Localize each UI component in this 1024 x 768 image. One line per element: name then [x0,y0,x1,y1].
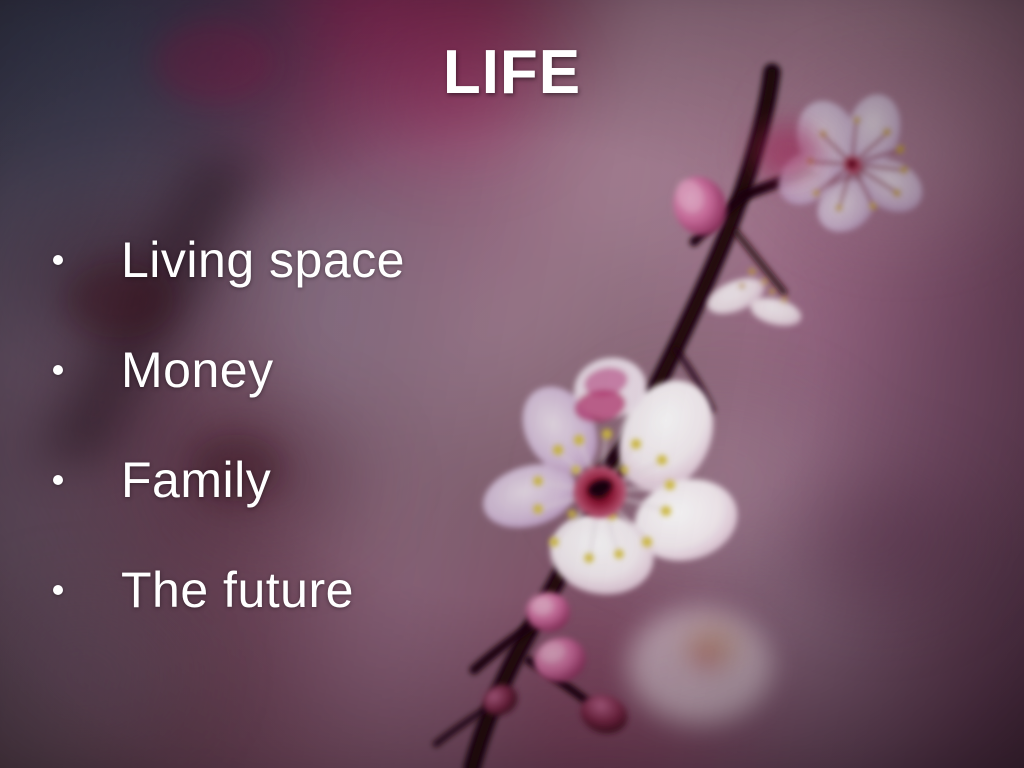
bullet-item-living-space: Living space [42,205,682,315]
bullet-item-family: Family [42,425,682,535]
bullet-label: Living space [121,235,405,285]
bullet-dot-icon [53,475,63,485]
bullet-label: Family [121,455,271,505]
bullet-label: Money [121,345,274,395]
bullet-dot-icon [53,585,63,595]
presentation-slide: LIFE Living space Money Family The futur… [0,0,1024,768]
bullet-dot-icon [53,365,63,375]
bullet-item-the-future: The future [42,535,682,645]
bullet-item-money: Money [42,315,682,425]
slide-content: LIFE Living space Money Family The futur… [0,0,1024,768]
slide-title: LIFE [0,42,1024,104]
bullet-label: The future [121,565,354,615]
bullet-list: Living space Money Family The future [42,205,682,645]
bullet-dot-icon [53,255,63,265]
